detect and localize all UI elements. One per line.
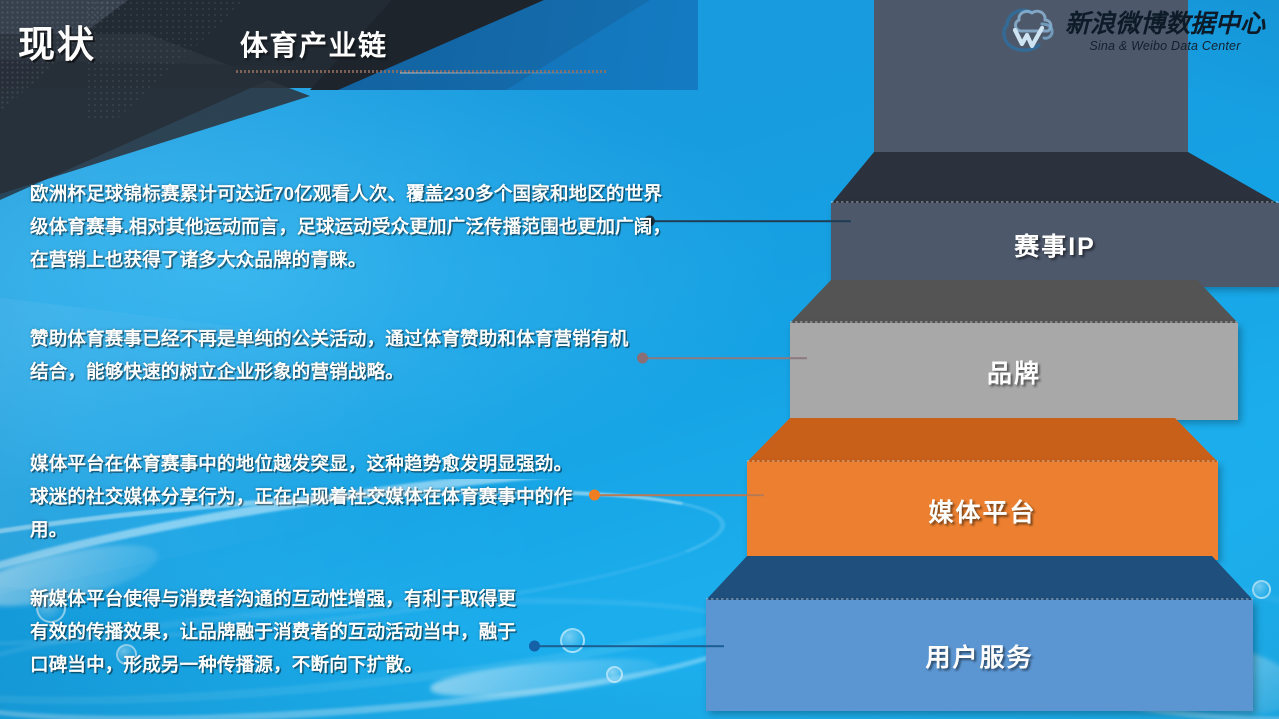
connector-to-user-service (529, 639, 725, 653)
logo-english-name: Sina & Weibo Data Center (1065, 40, 1265, 53)
page-title: 体育产业链 (240, 24, 388, 64)
connector-dot-3 (589, 490, 600, 501)
tier-media-platform-top-face (747, 418, 1218, 462)
brand-logo: 新浪微博数据中心 Sina & Weibo Data Center (1001, 6, 1265, 58)
paragraph-media-platform: 媒体平台在体育赛事中的地位越发突显，这种趋势愈发明显强劲。球迷的社交媒体分享行为… (30, 447, 590, 546)
title-underline-glow (400, 72, 610, 74)
connector-line-3 (596, 494, 764, 496)
connector-to-media-platform (589, 488, 765, 502)
tier-event-ip-label: 赛事IP (831, 203, 1279, 287)
paragraph-brand: 赞助体育赛事已经不再是单纯的公关活动，通过体育赞助和体育营销有机结合，能够快速的… (30, 322, 630, 388)
logo-chinese-name: 新浪微博数据中心 (1065, 12, 1265, 37)
tier-user-service-top-face (706, 556, 1253, 600)
connector-line-4 (536, 645, 724, 647)
connector-line-1 (651, 220, 851, 222)
tier-brand[interactable]: 品牌 (790, 280, 1238, 420)
connector-line-2 (644, 357, 807, 359)
logo-text-group: 新浪微博数据中心 Sina & Weibo Data Center (1065, 12, 1265, 53)
tier-brand-label: 品牌 (790, 323, 1238, 420)
paragraph-user-service: 新媒体平台使得与消费者沟通的互动性增强，有利于取得更有效的传播效果，让品牌融于消… (30, 582, 530, 681)
tier-event-ip-top-face (831, 152, 1279, 204)
connector-dot-2 (637, 353, 648, 364)
tier-media-platform[interactable]: 媒体平台 (747, 418, 1218, 560)
connector-to-brand (637, 351, 807, 365)
paragraph-event-ip: 欧洲杯足球锦标赛累计可达近70亿观看人次、覆盖230多个国家和地区的世界级体育赛… (30, 177, 678, 276)
tier-media-platform-label: 媒体平台 (747, 462, 1218, 560)
tier-brand-top-face (790, 280, 1238, 323)
section-label: 现状 (18, 14, 96, 68)
tier-user-service[interactable]: 用户服务 (706, 556, 1253, 711)
tier-user-service-label: 用户服务 (706, 600, 1253, 711)
connector-dot-4 (529, 641, 540, 652)
slide-canvas: 现状 体育产业链 新浪微博数据中心 Sina & Weibo Data Cent… (0, 0, 1279, 719)
weibo-cloud-w-icon (1001, 6, 1059, 58)
